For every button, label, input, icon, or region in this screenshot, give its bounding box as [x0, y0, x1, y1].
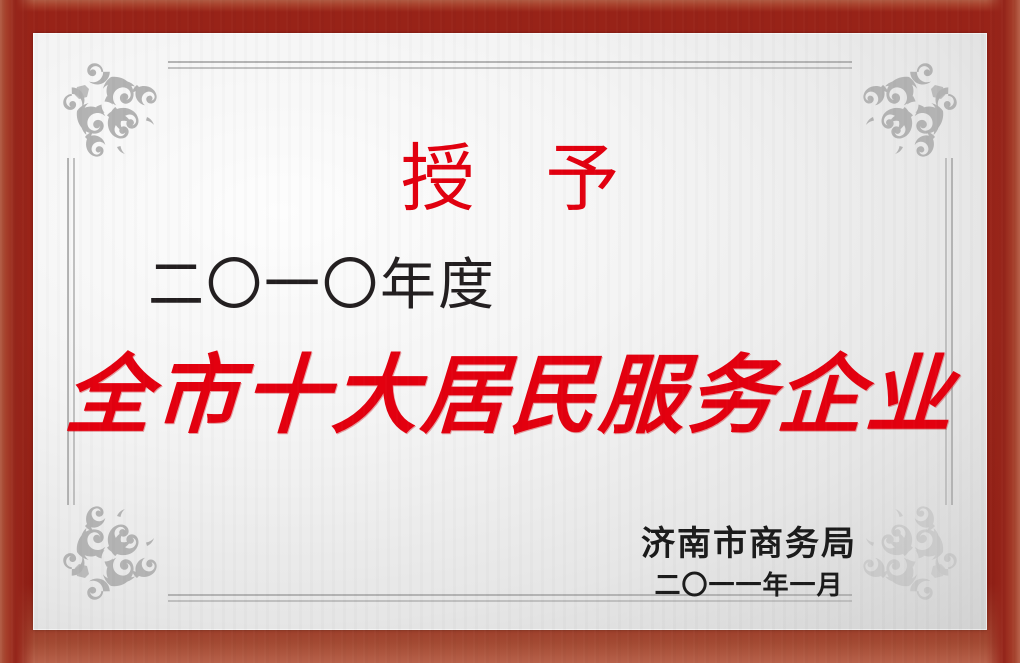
issue-date: 二〇一一年一月 [641, 571, 857, 600]
award-plaque: 授 予 二〇一〇年度 全市十大居民服务企业 济南市商务局 二〇一一年一月 [0, 0, 1020, 663]
signature-block: 济南市商务局 二〇一一年一月 [641, 525, 857, 600]
award-main-title: 全市十大居民服务企业 [33, 348, 987, 444]
award-word: 授 予 [33, 143, 987, 217]
award-year-line: 二〇一〇年度 [148, 258, 496, 314]
issuing-organization: 济南市商务局 [641, 525, 857, 563]
plaque-mat: 授 予 二〇一〇年度 全市十大居民服务企业 济南市商务局 二〇一一年一月 [33, 33, 987, 630]
plaque-content: 授 予 二〇一〇年度 全市十大居民服务企业 济南市商务局 二〇一一年一月 [33, 33, 987, 630]
